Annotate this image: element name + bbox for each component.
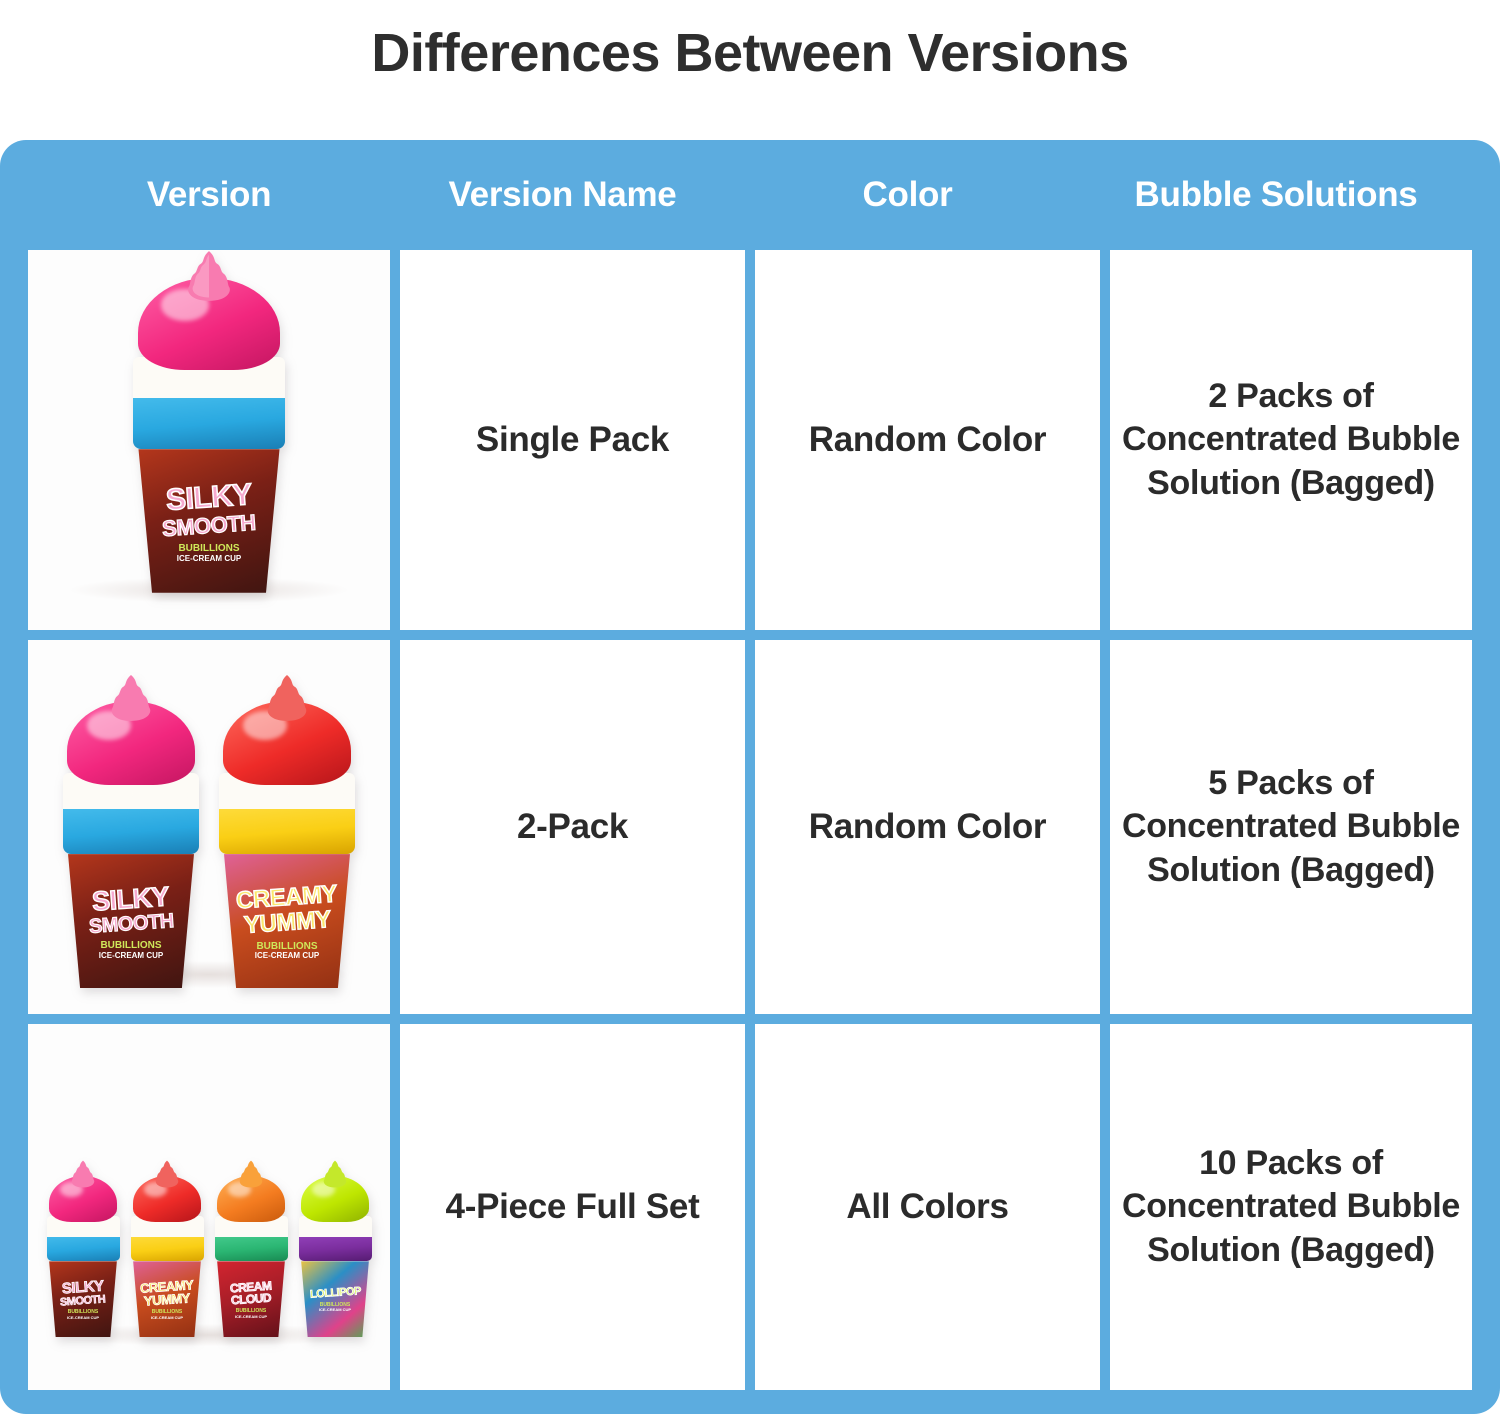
- swirl-top-icon: [70, 1160, 96, 1188]
- color-value: All Colors: [755, 1024, 1100, 1390]
- cup-sub-line-2: ICE-CREAM CUP: [67, 1316, 99, 1320]
- cup-sub-line-2: ICE-CREAM CUP: [255, 952, 319, 960]
- swirl-shape-icon: [265, 674, 309, 722]
- version-name-value: 4-Piece Full Set: [400, 1024, 745, 1390]
- cup-brand-line-2: SMOOTH: [88, 912, 174, 937]
- cup-brand-line-1: LOLLIPOP: [309, 1286, 361, 1300]
- column-header-version: Version: [28, 140, 390, 250]
- table-header-row: Version Version Name Color Bubble Soluti…: [28, 140, 1472, 250]
- swirl-top-icon: [185, 250, 233, 302]
- swirl-shape-icon: [154, 1160, 180, 1188]
- cup-sub-line-2: ICE-CREAM CUP: [99, 952, 163, 960]
- cup-sub-brand: BUBILLIONS ICE-CREAM CUP: [67, 1310, 99, 1319]
- cup-sub-brand: BUBILLIONS ICE-CREAM CUP: [99, 941, 163, 960]
- printed-cup-body: CREAMY YUMMY BUBILLIONS ICE-CREAM CUP: [131, 1261, 203, 1339]
- table-row: SILKY SMOOTH BUBILLIONS ICE-CREAM CUP: [28, 640, 1472, 1014]
- cup-brand-line-2: SMOOTH: [60, 1294, 106, 1308]
- swirl-shape-icon: [109, 674, 153, 722]
- single-pack-ice-cream-cup-photo: SILKY SMOOTH BUBILLIONS ICE-CREAM CUP: [28, 250, 390, 630]
- swirl-top-icon: [322, 1160, 348, 1188]
- swirl-shape-icon: [185, 250, 233, 302]
- cup-sub-brand: BUBILLIONS ICE-CREAM CUP: [255, 942, 319, 961]
- cup-brand-line-2: SMOOTH: [162, 511, 257, 539]
- ice-cream-cup: SILKY SMOOTH BUBILLIONS ICE-CREAM CUP: [43, 1160, 123, 1340]
- table-row: SILKY SMOOTH BUBILLIONS ICE-CREAM CUP Si…: [28, 250, 1472, 630]
- cup-sub-line-2: ICE-CREAM CUP: [235, 1315, 267, 1319]
- color-value: Random Color: [755, 640, 1100, 1014]
- ice-cream-cup: CREAMY YUMMY BUBILLIONS ICE-CREAM CUP: [212, 674, 362, 992]
- version-name-value: Single Pack: [400, 250, 745, 630]
- ice-cream-cup: CREAMY YUMMY BUBILLIONS ICE-CREAM CUP: [127, 1160, 207, 1340]
- bubble-solutions-value: 5 Packs of Concentrated Bubble Solution …: [1110, 640, 1472, 1014]
- printed-cup-body: SILKY SMOOTH BUBILLIONS ICE-CREAM CUP: [134, 449, 284, 597]
- table-row: SILKY SMOOTH BUBILLIONS ICE-CREAM CUP: [28, 1024, 1472, 1390]
- cup-sub-brand: BUBILLIONS ICE-CREAM CUP: [177, 544, 241, 563]
- swirl-top-icon: [154, 1160, 180, 1188]
- ice-cream-cup: LOLLIPOP BUBILLIONS ICE-CREAM CUP: [295, 1160, 375, 1340]
- printed-cup-body: SILKY SMOOTH BUBILLIONS ICE-CREAM CUP: [64, 854, 198, 992]
- comparison-table: Version Version Name Color Bubble Soluti…: [0, 140, 1500, 1414]
- printed-cup-body: CREAMY YUMMY BUBILLIONS ICE-CREAM CUP: [220, 854, 354, 992]
- bubble-solutions-value: 2 Packs of Concentrated Bubble Solution …: [1110, 250, 1472, 630]
- swirl-shape-icon: [238, 1160, 264, 1188]
- column-header-color: Color: [735, 140, 1080, 250]
- swirl-shape-icon: [322, 1160, 348, 1188]
- printed-cup-body: CREAM CLOUD BUBILLIONS ICE-CREAM CUP: [215, 1261, 287, 1339]
- cup-sub-brand: BUBILLIONS ICE-CREAM CUP: [235, 1309, 267, 1318]
- swirl-shape-icon: [70, 1160, 96, 1188]
- printed-cup-body: SILKY SMOOTH BUBILLIONS ICE-CREAM CUP: [47, 1261, 119, 1339]
- cup-sub-line-2: ICE-CREAM CUP: [151, 1316, 183, 1320]
- swirl-top-icon: [265, 674, 309, 722]
- ice-cream-cup: SILKY SMOOTH BUBILLIONS ICE-CREAM CUP: [124, 250, 294, 597]
- cup-sub-brand: BUBILLIONS ICE-CREAM CUP: [319, 1303, 351, 1312]
- cup-brand-line-2: YUMMY: [144, 1292, 191, 1308]
- column-header-version-name: Version Name: [390, 140, 735, 250]
- cup-sub-line-2: ICE-CREAM CUP: [319, 1308, 351, 1312]
- cup-brand-line-2: CLOUD: [231, 1292, 272, 1307]
- version-name-value: 2-Pack: [400, 640, 745, 1014]
- product-image-cell-full-set: SILKY SMOOTH BUBILLIONS ICE-CREAM CUP: [28, 1024, 390, 1390]
- swirl-top-icon: [238, 1160, 264, 1188]
- two-pack-ice-cream-cups-photo: SILKY SMOOTH BUBILLIONS ICE-CREAM CUP: [28, 640, 390, 1014]
- page-title: Differences Between Versions: [0, 0, 1500, 140]
- product-image-cell-two-pack: SILKY SMOOTH BUBILLIONS ICE-CREAM CUP: [28, 640, 390, 1014]
- color-value: Random Color: [755, 250, 1100, 630]
- ice-cream-cup: SILKY SMOOTH BUBILLIONS ICE-CREAM CUP: [56, 674, 206, 992]
- cup-sub-brand: BUBILLIONS ICE-CREAM CUP: [151, 1310, 183, 1319]
- bubble-solutions-value: 10 Packs of Concentrated Bubble Solution…: [1110, 1024, 1472, 1390]
- cup-sub-line-2: ICE-CREAM CUP: [177, 555, 241, 563]
- four-piece-full-set-ice-cream-cups-photo: SILKY SMOOTH BUBILLIONS ICE-CREAM CUP: [28, 1024, 390, 1390]
- cup-brand-line-2: YUMMY: [243, 908, 331, 938]
- swirl-top-icon: [109, 674, 153, 722]
- ice-cream-cup: CREAM CLOUD BUBILLIONS ICE-CREAM CUP: [211, 1160, 291, 1340]
- product-image-cell-single-pack: SILKY SMOOTH BUBILLIONS ICE-CREAM CUP: [28, 250, 390, 630]
- table-body: SILKY SMOOTH BUBILLIONS ICE-CREAM CUP Si…: [28, 250, 1472, 1390]
- printed-cup-body: LOLLIPOP BUBILLIONS ICE-CREAM CUP: [299, 1261, 371, 1339]
- column-header-bubble-solutions: Bubble Solutions: [1080, 140, 1472, 250]
